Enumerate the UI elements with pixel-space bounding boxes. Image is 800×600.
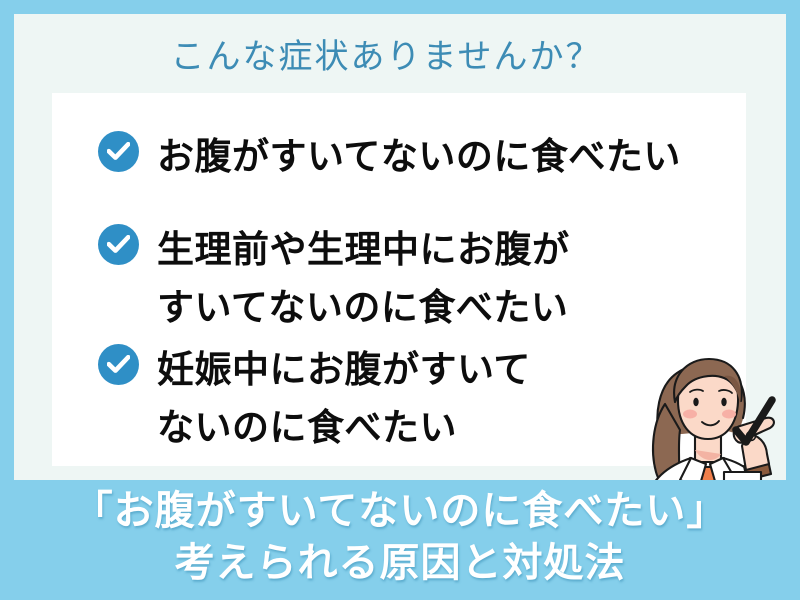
symptom-list: お腹がすいてないのに食べたい 生理前や生理中にお腹が すいてないのに食べたい 妊…: [52, 93, 746, 466]
poster-root: こんな症状ありませんか？ お腹がすいてないのに食べたい 生理前や生理中にお腹が …: [0, 0, 800, 600]
title-banner: 「お腹がすいてないのに食べたい」 考えられる原因と対処法: [0, 480, 800, 600]
circle-check-icon: [98, 344, 139, 385]
circle-check-icon: [98, 224, 139, 265]
banner-title-line-1: 「お腹がすいてないのに食べたい」: [0, 480, 800, 537]
list-item-label: お腹がすいてないのに食べたい: [157, 128, 681, 186]
list-item: お腹がすいてないのに食べたい: [98, 128, 681, 186]
list-item-label: 妊娠中にお腹がすいて ないのに食べたい: [157, 341, 531, 457]
page-title: こんな症状ありませんか？: [0, 29, 772, 78]
list-item-label: 生理前や生理中にお腹が すいてないのに食べたい: [157, 221, 570, 337]
banner-title-line-2: 考えられる原因と対処法: [0, 537, 800, 589]
list-item: 生理前や生理中にお腹が すいてないのに食べたい: [98, 221, 570, 337]
symptom-card: お腹がすいてないのに食べたい 生理前や生理中にお腹が すいてないのに食べたい 妊…: [52, 93, 746, 466]
circle-check-icon: [98, 131, 139, 172]
list-item: 妊娠中にお腹がすいて ないのに食べたい: [98, 341, 531, 457]
